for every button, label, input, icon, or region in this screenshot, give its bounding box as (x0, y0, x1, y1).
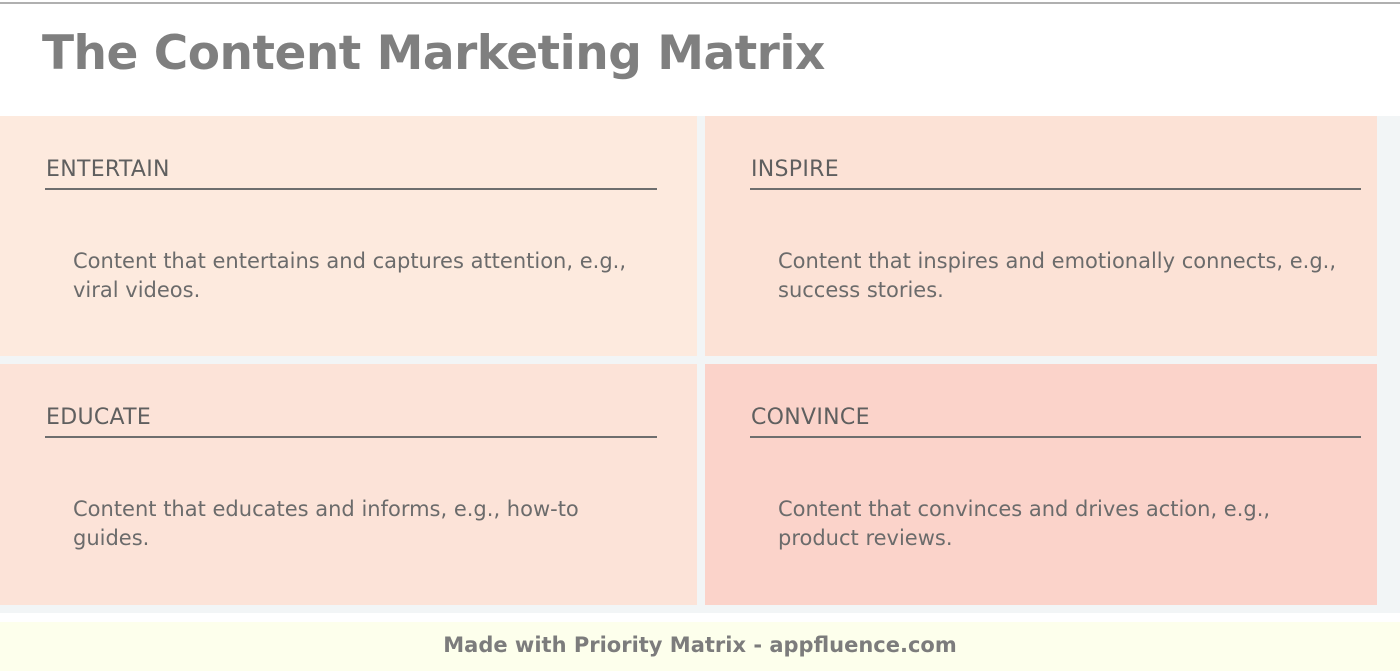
quadrant-entertain-divider (45, 188, 657, 190)
quadrant-educate-divider (45, 436, 657, 438)
quadrant-convince-label: CONVINCE (751, 405, 870, 430)
quadrant-entertain[interactable]: ENTERTAIN Content that entertains and ca… (0, 116, 697, 356)
quadrant-inspire-divider (750, 188, 1361, 190)
quadrant-educate-label: EDUCATE (46, 405, 151, 430)
footer-spacer (0, 613, 1400, 622)
quadrant-inspire-description: Content that inspires and emotionally co… (778, 247, 1338, 305)
quadrant-inspire-label: INSPIRE (751, 157, 839, 182)
matrix-grid: ENTERTAIN Content that entertains and ca… (0, 116, 1400, 613)
quadrant-convince[interactable]: CONVINCE Content that convinces and driv… (705, 364, 1377, 605)
quadrant-entertain-description: Content that entertains and captures att… (73, 247, 633, 305)
quadrant-convince-description: Content that convinces and drives action… (778, 495, 1338, 553)
footer-attribution: Made with Priority Matrix - appfluence.c… (0, 633, 1400, 657)
quadrant-entertain-label: ENTERTAIN (46, 157, 170, 182)
quadrant-convince-divider (750, 436, 1361, 438)
page-header: The Content Marketing Matrix (0, 4, 1400, 116)
quadrant-educate[interactable]: EDUCATE Content that educates and inform… (0, 364, 697, 605)
page-footer: Made with Priority Matrix - appfluence.c… (0, 622, 1400, 671)
quadrant-educate-description: Content that educates and informs, e.g.,… (73, 495, 633, 553)
matrix-page: The Content Marketing Matrix ENTERTAIN C… (0, 0, 1400, 671)
page-title: The Content Marketing Matrix (42, 26, 825, 81)
quadrant-inspire[interactable]: INSPIRE Content that inspires and emotio… (705, 116, 1377, 356)
